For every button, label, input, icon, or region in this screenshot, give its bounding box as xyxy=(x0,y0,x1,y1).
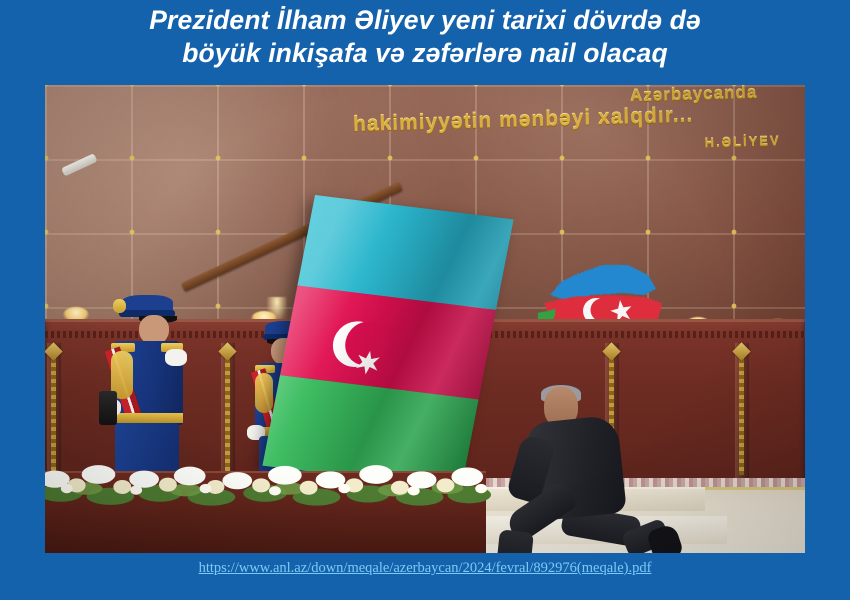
slide-canvas: Prezident İlham Əliyev yeni tarixi dövrd… xyxy=(0,0,850,600)
source-url-link[interactable]: https://www.anl.az/down/meqale/azerbayca… xyxy=(0,560,850,577)
title-line-1: Prezident İlham Əliyev yeni tarixi dövrd… xyxy=(0,4,850,37)
photo-ceremony: Azərbaycanda hakimiyyətin mənbəyi xalqdı… xyxy=(45,85,805,553)
flower-arrangement xyxy=(45,462,497,509)
kneeling-president xyxy=(500,385,685,553)
page-title: Prezident İlham Əliyev yeni tarixi dövrd… xyxy=(0,4,850,70)
title-line-2: böyük inkişafa və zəfərlərə nail olacaq xyxy=(0,37,850,70)
